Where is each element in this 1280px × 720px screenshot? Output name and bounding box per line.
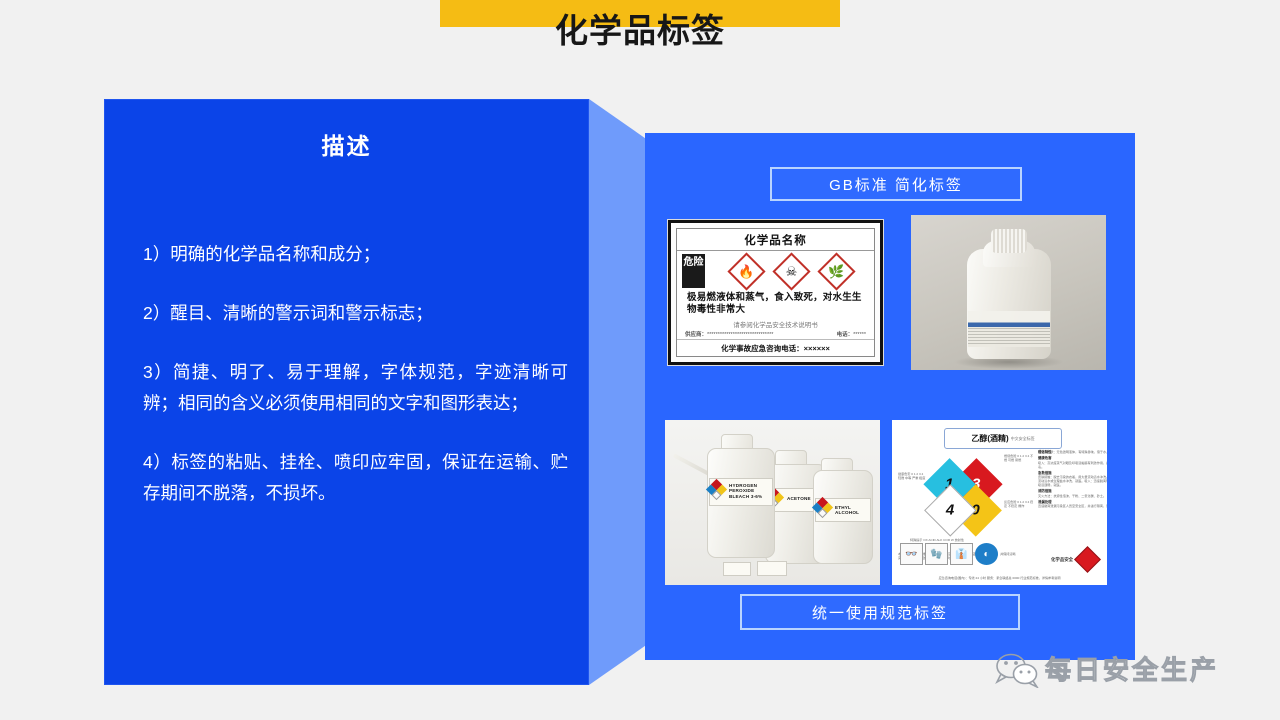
loose-label-1 — [723, 562, 751, 576]
flame-icon: 🔥 — [727, 252, 765, 290]
nfpa-label-sheet: 乙醇(酒精) 中文安全标签 3 1 0 4 健康危害 0 1 2 3 4 轻微 … — [892, 420, 1107, 585]
goggles-icon: 👓 — [900, 543, 923, 565]
bottle-cap — [991, 229, 1027, 253]
nfpa-title: 乙醇(酒精) — [971, 433, 1008, 444]
apron-icon: 👔 — [950, 543, 973, 565]
nfpa-stamp: 化学品安全 — [1051, 557, 1073, 563]
three-bottles-photo: ACETONE HYDROGEN PEROXIDE BLEACH 3-6% ET… — [665, 420, 880, 585]
respirator-icon: ◐ — [975, 543, 998, 565]
tag-gb-standard: GB标准 简化标签 — [770, 167, 1022, 201]
list-item: 3）简捷、明了、易于理解，字体规范，字迹清晰可辨；相同的含义必须使用相同的文字和… — [143, 357, 568, 419]
label-examples-panel: GB标准 简化标签 化学品名称 危险 🔥 ☠ 🌿 极易燃液体和蒸气，食入致死，对… — [645, 133, 1135, 660]
nfpa-detail-column: 理化特性 外观与性状：无色透明液体，有特殊香味。溶于水，可与多数有机溶剂混溶。 … — [1038, 450, 1107, 508]
nfpa-footer: 应急咨询电话(国内)：专线 24 小时 服务：紧急联络总 0000 行业规范标准… — [896, 575, 1103, 580]
tag-unified-standard: 统一使用规范标签 — [740, 594, 1020, 630]
ghs-header: 化学品名称 — [677, 229, 874, 251]
signal-word-box: 危险 — [682, 254, 705, 288]
bottle-photo — [911, 215, 1106, 370]
arrow-heading: 描述 — [104, 127, 589, 161]
emergency-phone: 化学事故应急咨询电话：×××××× — [677, 343, 874, 354]
nfpa-diamond: 3 1 0 4 — [911, 445, 1016, 550]
supplier-line: 供应商：******************************* — [685, 330, 773, 338]
gloves-icon: 🧤 — [925, 543, 948, 565]
ghs-label-image: 化学品名称 危险 🔥 ☠ 🌿 极易燃液体和蒸气，食入致死，对水生生物毒性非常大 … — [667, 219, 884, 366]
list-item: 2）醒目、清晰的警示词和警示标志； — [143, 298, 568, 329]
nfpa-legend-left: 健康危害 0 1 2 3 4 轻微 中等 严重 极度 — [898, 472, 926, 480]
watermark: 每日安全生产 — [995, 650, 1219, 687]
nfpa-legend-right: 反应危险 0 1 2 3 4 稳定 不稳定 爆炸 — [1004, 500, 1034, 508]
bottle-label — [968, 311, 1050, 347]
description-arrow-panel: 描述 1）明确的化学品名称和成分； 2）醒目、清晰的警示词和警示标志； 3）简捷… — [104, 99, 652, 685]
ppe-icons: 👓 🧤 👔 ◐ — [900, 543, 998, 565]
list-item: 4）标签的粘贴、挂栓、喷印应牢固，保证在运输、贮存期间不脱落，不损坏。 — [143, 447, 568, 509]
nfpa-title-sub: 中文安全标签 — [1011, 436, 1035, 442]
nfpa-legend-bottom: 特殊提示 OX ACID ALK COR W 放射性 — [910, 538, 970, 542]
wechat-icon — [995, 652, 1037, 686]
watermark-text: 每日安全生产 — [1045, 650, 1219, 687]
environment-hazard-icon: 🌿 — [817, 252, 855, 290]
sds-reference: 请参阅化学品安全技术说明书 — [677, 316, 874, 329]
arrow-bevel — [589, 99, 652, 685]
skull-crossbones-icon: ☠ — [772, 252, 810, 290]
description-list: 1）明确的化学品名称和成分； 2）醒目、清晰的警示词和警示标志； 3）简捷、明了… — [143, 239, 568, 509]
page-title: 化学品标签 — [0, 4, 1280, 52]
hazard-diamond-small — [1074, 546, 1101, 573]
bottle-ea-text: ETHYL ALCOHOL — [835, 505, 867, 516]
loose-label-2 — [757, 561, 787, 576]
list-item: 1）明确的化学品名称和成分； — [143, 239, 568, 270]
nfpa-legend-top: 燃烧危险 0 1 2 3 4 不燃 可燃 易燃 — [1004, 454, 1034, 462]
bottle-hp-text: HYDROGEN PEROXIDE BLEACH 3-6% — [729, 483, 771, 499]
hazard-statement: 极易燃液体和蒸气，食入致死，对水生生物毒性非常大 — [677, 290, 874, 316]
phone-line: 电话：****** — [837, 330, 866, 338]
